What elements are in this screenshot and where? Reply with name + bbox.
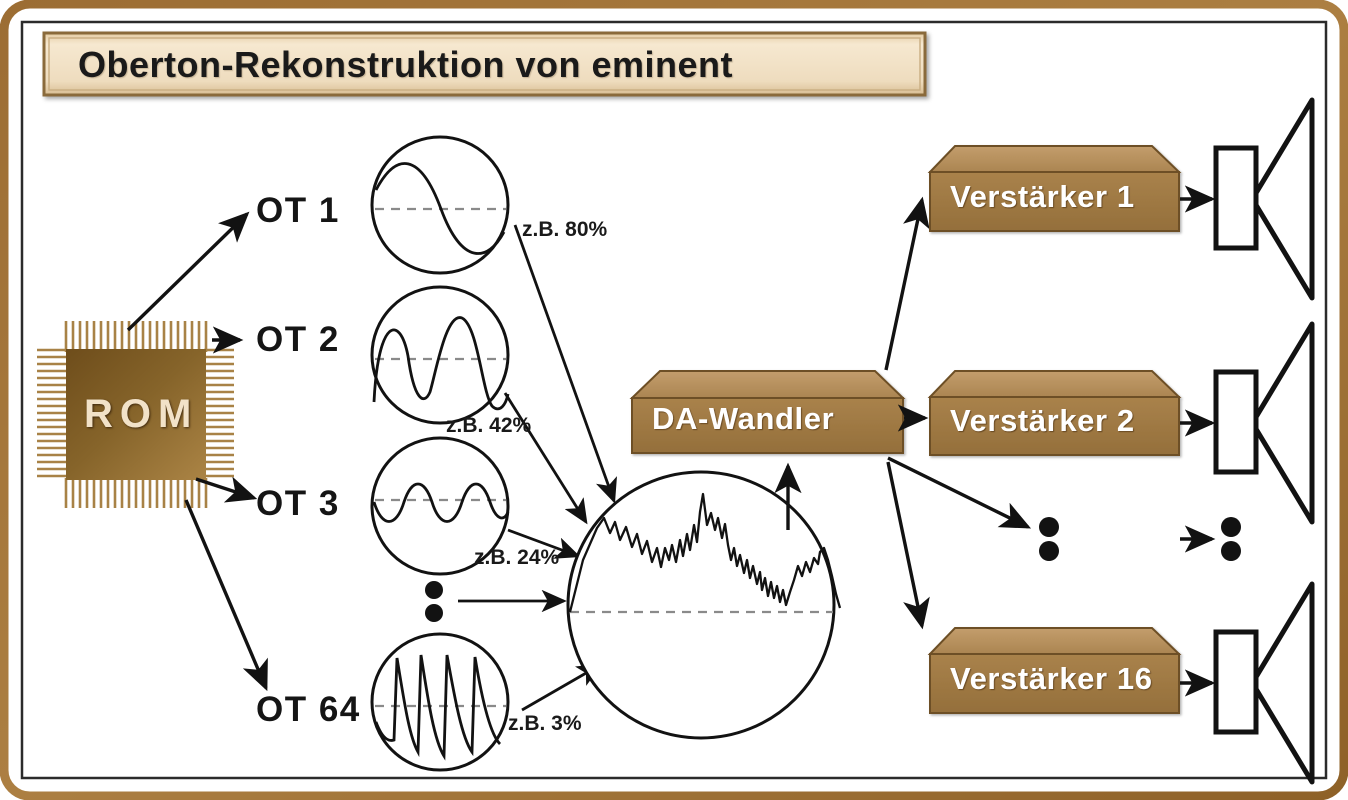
overtone-3-percent: z.B. 24%: [474, 546, 559, 570]
overtone-64-label: OT 64: [256, 690, 361, 730]
amplifier-16-label: Verstärker 16: [950, 661, 1153, 697]
amplifier-1-label: Verstärker 1: [950, 179, 1135, 215]
overtone-64-percent: z.B. 3%: [508, 712, 582, 736]
amplifier-2-label: Verstärker 2: [950, 403, 1135, 439]
overtone-1-percent: z.B. 80%: [522, 218, 607, 242]
overtone-1-label: OT 1: [256, 191, 340, 231]
overtone-2-label: OT 2: [256, 320, 340, 360]
diagram-canvas: Oberton-Rekonstruktion von eminent ROM O…: [0, 0, 1348, 800]
da-wandler-label: DA-Wandler: [652, 401, 834, 437]
overtone-3-label: OT 3: [256, 484, 340, 524]
overtone-1-wave-circle: [372, 137, 508, 273]
overtone-64-wave-circle: [372, 634, 508, 770]
overtone-2-percent: z.B. 42%: [446, 414, 531, 438]
rom-chip-label: ROM: [84, 392, 198, 437]
page-title: Oberton-Rekonstruktion von eminent: [78, 44, 733, 86]
overtone-2-wave-circle: [372, 287, 508, 423]
